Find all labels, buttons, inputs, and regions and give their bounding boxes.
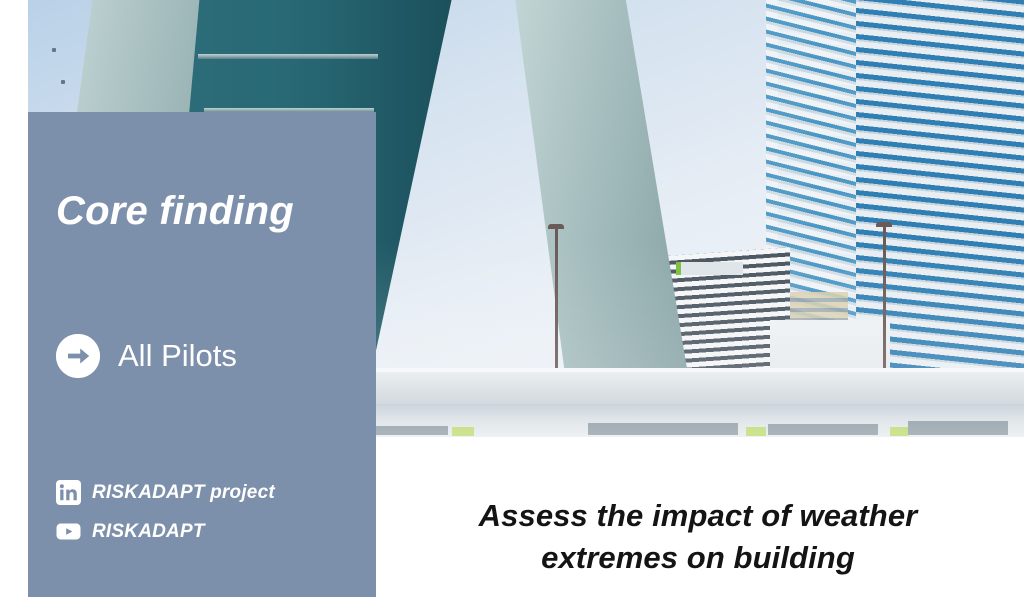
caption-line-2: extremes on building (398, 537, 998, 579)
social-label-linkedin: RISKADAPT project (92, 482, 275, 504)
arrow-right-circle-icon (56, 334, 100, 378)
pilot-scope-label: All Pilots (118, 338, 237, 374)
street-object (768, 424, 878, 435)
caption-block: Assess the impact of weather extremes on… (398, 495, 998, 579)
bridge-bolt (52, 48, 56, 52)
street-greenery (452, 427, 474, 436)
office-signage (676, 262, 743, 275)
social-link-linkedin[interactable]: RISKADAPT project (56, 480, 275, 505)
caption-line-1: Assess the impact of weather (398, 495, 998, 537)
social-label-youtube: RISKADAPT (92, 521, 205, 543)
street-lamp-head (548, 224, 564, 229)
bridge-rib (198, 54, 378, 59)
street-greenery (746, 427, 766, 436)
pilot-scope-row: All Pilots (56, 334, 237, 378)
street-object (908, 421, 1008, 435)
social-link-youtube[interactable]: RISKADAPT (56, 519, 275, 544)
linkedin-icon (56, 480, 81, 505)
panel-title: Core finding (56, 189, 294, 234)
bridge-bolt (61, 80, 65, 84)
street-lamp-head (876, 222, 892, 227)
street-object (588, 423, 738, 435)
street-greenery (890, 427, 908, 436)
social-links: RISKADAPT project RISKADAPT (56, 480, 275, 544)
youtube-icon (56, 519, 81, 544)
left-info-panel: Core finding All Pilots (28, 112, 376, 597)
slide-canvas: Core finding All Pilots (0, 0, 1024, 597)
